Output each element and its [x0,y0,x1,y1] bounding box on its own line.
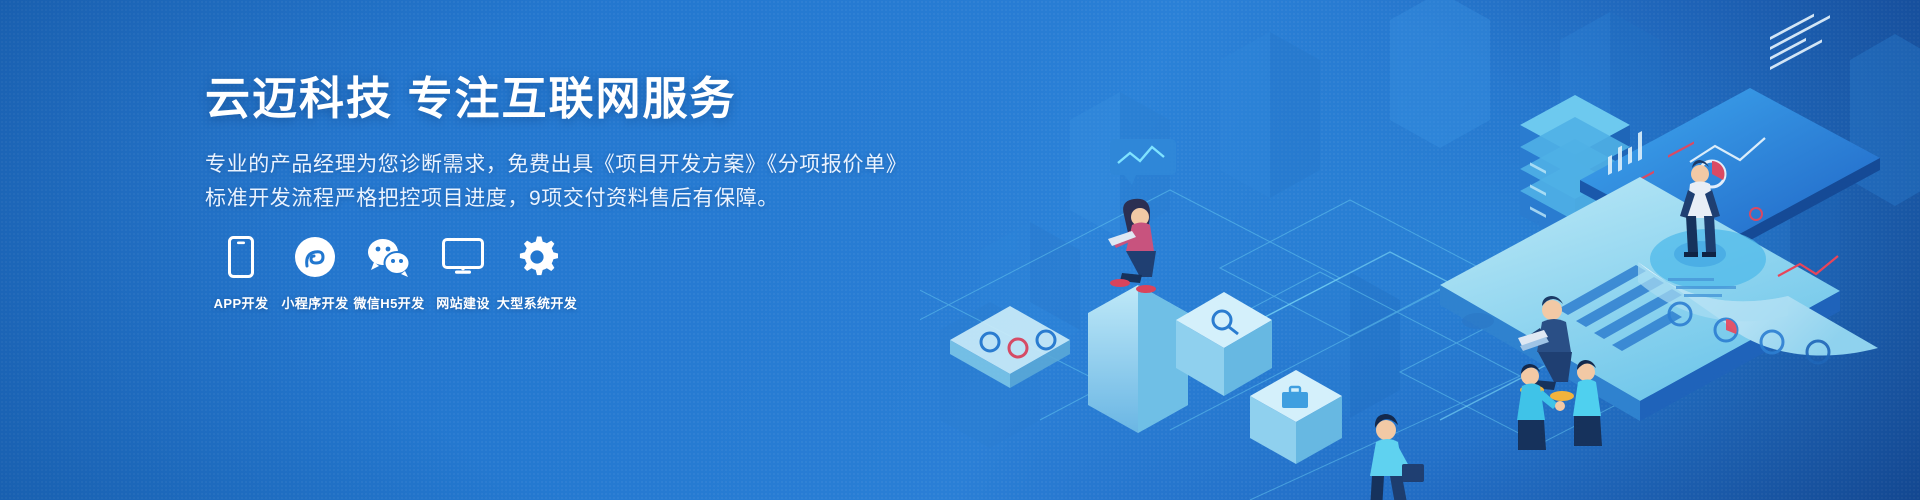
service-label: 小程序开发 [281,293,348,312]
banner-copy: 云迈科技 专注互联网服务 专业的产品经理为您诊断需求，免费出具《项目开发方案》《… [205,72,905,216]
page-title: 云迈科技 专注互联网服务 [205,72,905,125]
service-label: APP开发 [214,293,269,312]
service-list: APP开发 小程序开发 [205,232,575,312]
service-label: 网站建设 [436,293,490,312]
service-item-app[interactable]: APP开发 [205,232,277,312]
gear-icon [516,232,558,282]
walking-businessman [1364,414,1424,500]
banner-subtitle: 专业的产品经理为您诊断需求，免费出具《项目开发方案》《分项报价单》 标准开发流程… [205,148,905,216]
service-item-large-system[interactable]: 大型系统开发 [501,232,573,312]
illustration-isometric-tech-scene [920,0,1920,500]
service-item-website[interactable]: 网站建设 [427,232,499,312]
subtitle-line-1: 专业的产品经理为您诊断需求，免费出具《项目开发方案》《分项报价单》 [205,148,905,182]
service-item-miniprogram[interactable]: 小程序开发 [279,232,351,312]
subtitle-line-2: 标准开发流程严格把控项目进度，9项交付资料售后有保障。 [205,182,905,216]
service-label: 大型系统开发 [497,293,577,312]
mini-program-icon [294,232,336,282]
service-item-wechat-h5[interactable]: 微信H5开发 [353,232,425,312]
mobile-phone-icon [228,232,254,282]
monitor-icon [442,232,484,282]
hero-banner: 云迈科技 专注互联网服务 专业的产品经理为您诊断需求，免费出具《项目开发方案》《… [0,0,1920,500]
wechat-icon [366,232,412,282]
service-label: 微信H5开发 [353,293,424,312]
